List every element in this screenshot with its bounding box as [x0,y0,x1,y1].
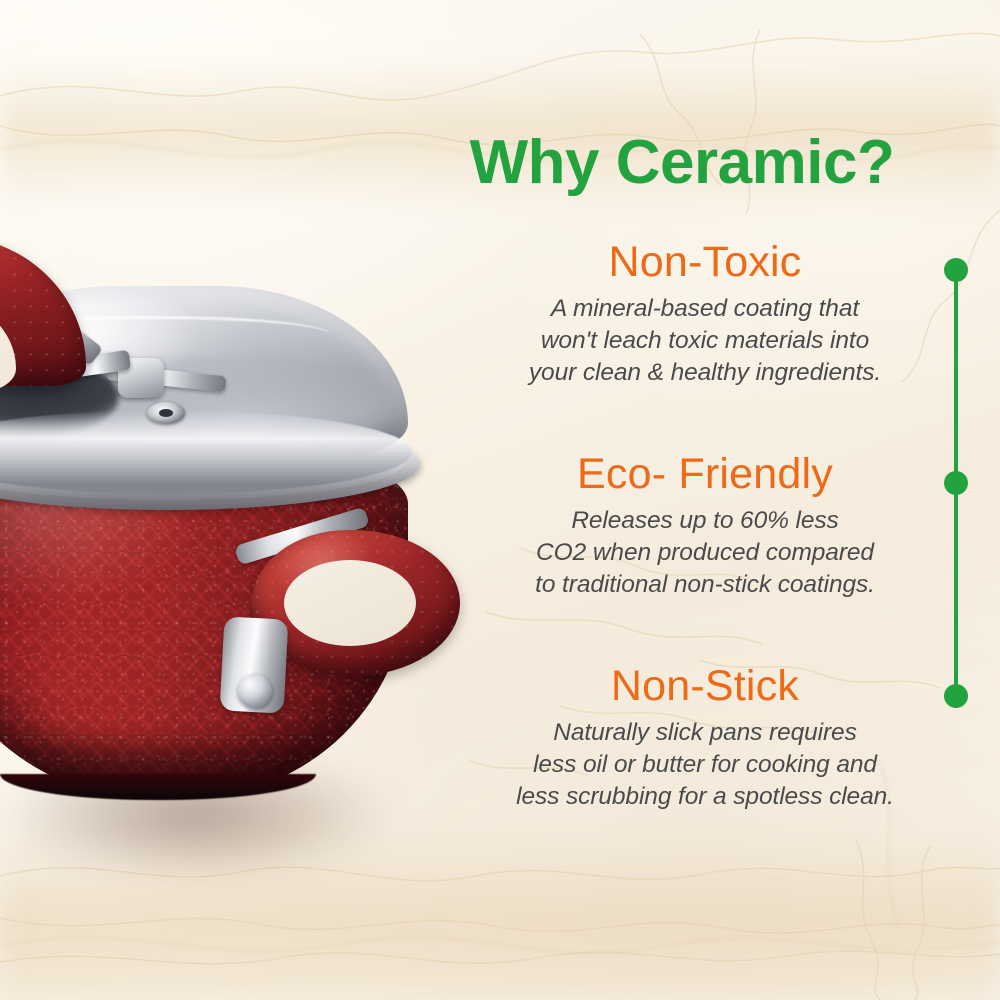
feature-description: Naturally slick pans requires less oil o… [470,717,940,813]
side-handle-opening [284,560,416,646]
feature-line: to traditional non-stick coatings. [470,569,940,601]
feature-line: Naturally slick pans requires [470,717,940,749]
feature-heading: Non-Stick [470,662,940,710]
feature-eco-friendly: Eco- Friendly Releases up to 60% less CO… [470,450,940,601]
connector-dot-non-stick [944,684,968,708]
feature-non-toxic: Non-Toxic A mineral-based coating that w… [470,238,940,389]
feature-description: A mineral-based coating that won't leach… [470,293,940,389]
connector-dot-non-toxic [944,258,968,282]
feature-line: CO2 when produced compared [470,537,940,569]
feature-line: Releases up to 60% less [470,505,940,537]
handle-rivet [238,674,272,708]
product-image-ceramic-pot [0,118,522,898]
feature-line: less scrubbing for a spotless clean. [470,781,940,813]
page-title: Why Ceramic? [422,130,942,195]
feature-line: A mineral-based coating that [470,293,940,325]
feature-connector [944,258,968,718]
lid-steam-vent [147,402,185,424]
feature-non-stick: Non-Stick Naturally slick pans requires … [470,662,940,813]
connector-dot-eco-friendly [944,471,968,495]
feature-line: less oil or butter for cooking and [470,749,940,781]
feature-line: won't leach toxic materials into [470,325,940,357]
content-column: Why Ceramic? Non-Toxic A mineral-based c… [470,0,1000,1000]
feature-heading: Non-Toxic [470,238,940,286]
feature-description: Releases up to 60% less CO2 when produce… [470,505,940,601]
infographic-canvas: Why Ceramic? Non-Toxic A mineral-based c… [0,0,1000,1000]
feature-line: your clean & healthy ingredients. [470,357,940,389]
feature-heading: Eco- Friendly [470,450,940,498]
